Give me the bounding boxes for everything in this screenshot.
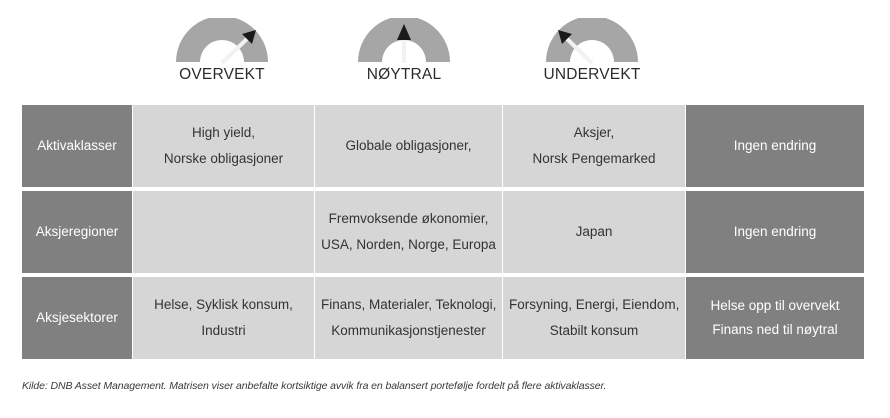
cell-aksjeregioner-endring: Ingen endring bbox=[686, 191, 864, 273]
cell-aktivaklasser-overvekt: High yield, Norske obligasjoner bbox=[133, 105, 314, 187]
gauge-label-undervekt: UNDERVEKT bbox=[501, 66, 683, 84]
table-row: Aksjeregioner Fremvoksende økonomier, US… bbox=[22, 191, 864, 273]
cell-aksjeregioner-undervekt: Japan bbox=[503, 191, 685, 273]
gauge-block-overvekt: OVERVEKT bbox=[131, 18, 313, 84]
table-row: Aktivaklasser High yield, Norske obligas… bbox=[22, 105, 864, 187]
gauge-header: OVERVEKT NØYTRAL UNDERVEKT bbox=[21, 18, 862, 96]
cell-aktivaklasser-noytral: Globale obligasjoner, bbox=[315, 105, 502, 187]
allocation-matrix: OVERVEKT NØYTRAL UNDERVEKT bbox=[0, 0, 890, 418]
cell-aksjesektorer-noytral: Finans, Materialer, Teknologi, Kommunika… bbox=[315, 277, 502, 359]
table-row: Aksjesektorer Helse, Syklisk konsum, Ind… bbox=[22, 277, 864, 359]
gauge-overweight-icon bbox=[174, 18, 270, 64]
source-footnote: Kilde: DNB Asset Management. Matrisen vi… bbox=[22, 380, 872, 392]
gauge-neutral-icon bbox=[356, 18, 452, 64]
allocation-table: Aktivaklasser High yield, Norske obligas… bbox=[21, 101, 865, 363]
cell-aksjesektorer-endring: Helse opp til overvekt Finans ned til nø… bbox=[686, 277, 864, 359]
cell-aktivaklasser-undervekt: Aksjer, Norsk Pengemarked bbox=[503, 105, 685, 187]
gauge-block-undervekt: UNDERVEKT bbox=[501, 18, 683, 84]
cell-aksjesektorer-overvekt: Helse, Syklisk konsum, Industri bbox=[133, 277, 314, 359]
cell-aksjeregioner-overvekt bbox=[133, 191, 314, 273]
gauge-label-noytral: NØYTRAL bbox=[313, 66, 495, 84]
row-label-aksjeregioner: Aksjeregioner bbox=[22, 191, 132, 273]
gauge-label-overvekt: OVERVEKT bbox=[131, 66, 313, 84]
cell-aktivaklasser-endring: Ingen endring bbox=[686, 105, 864, 187]
cell-aksjeregioner-noytral: Fremvoksende økonomier, USA, Norden, Nor… bbox=[315, 191, 502, 273]
row-label-aksjesektorer: Aksjesektorer bbox=[22, 277, 132, 359]
row-label-aktivaklasser: Aktivaklasser bbox=[22, 105, 132, 187]
gauge-block-noytral: NØYTRAL bbox=[313, 18, 495, 84]
gauge-underweight-icon bbox=[544, 18, 640, 64]
cell-aksjesektorer-undervekt: Forsyning, Energi, Eiendom, Stabilt kons… bbox=[503, 277, 685, 359]
